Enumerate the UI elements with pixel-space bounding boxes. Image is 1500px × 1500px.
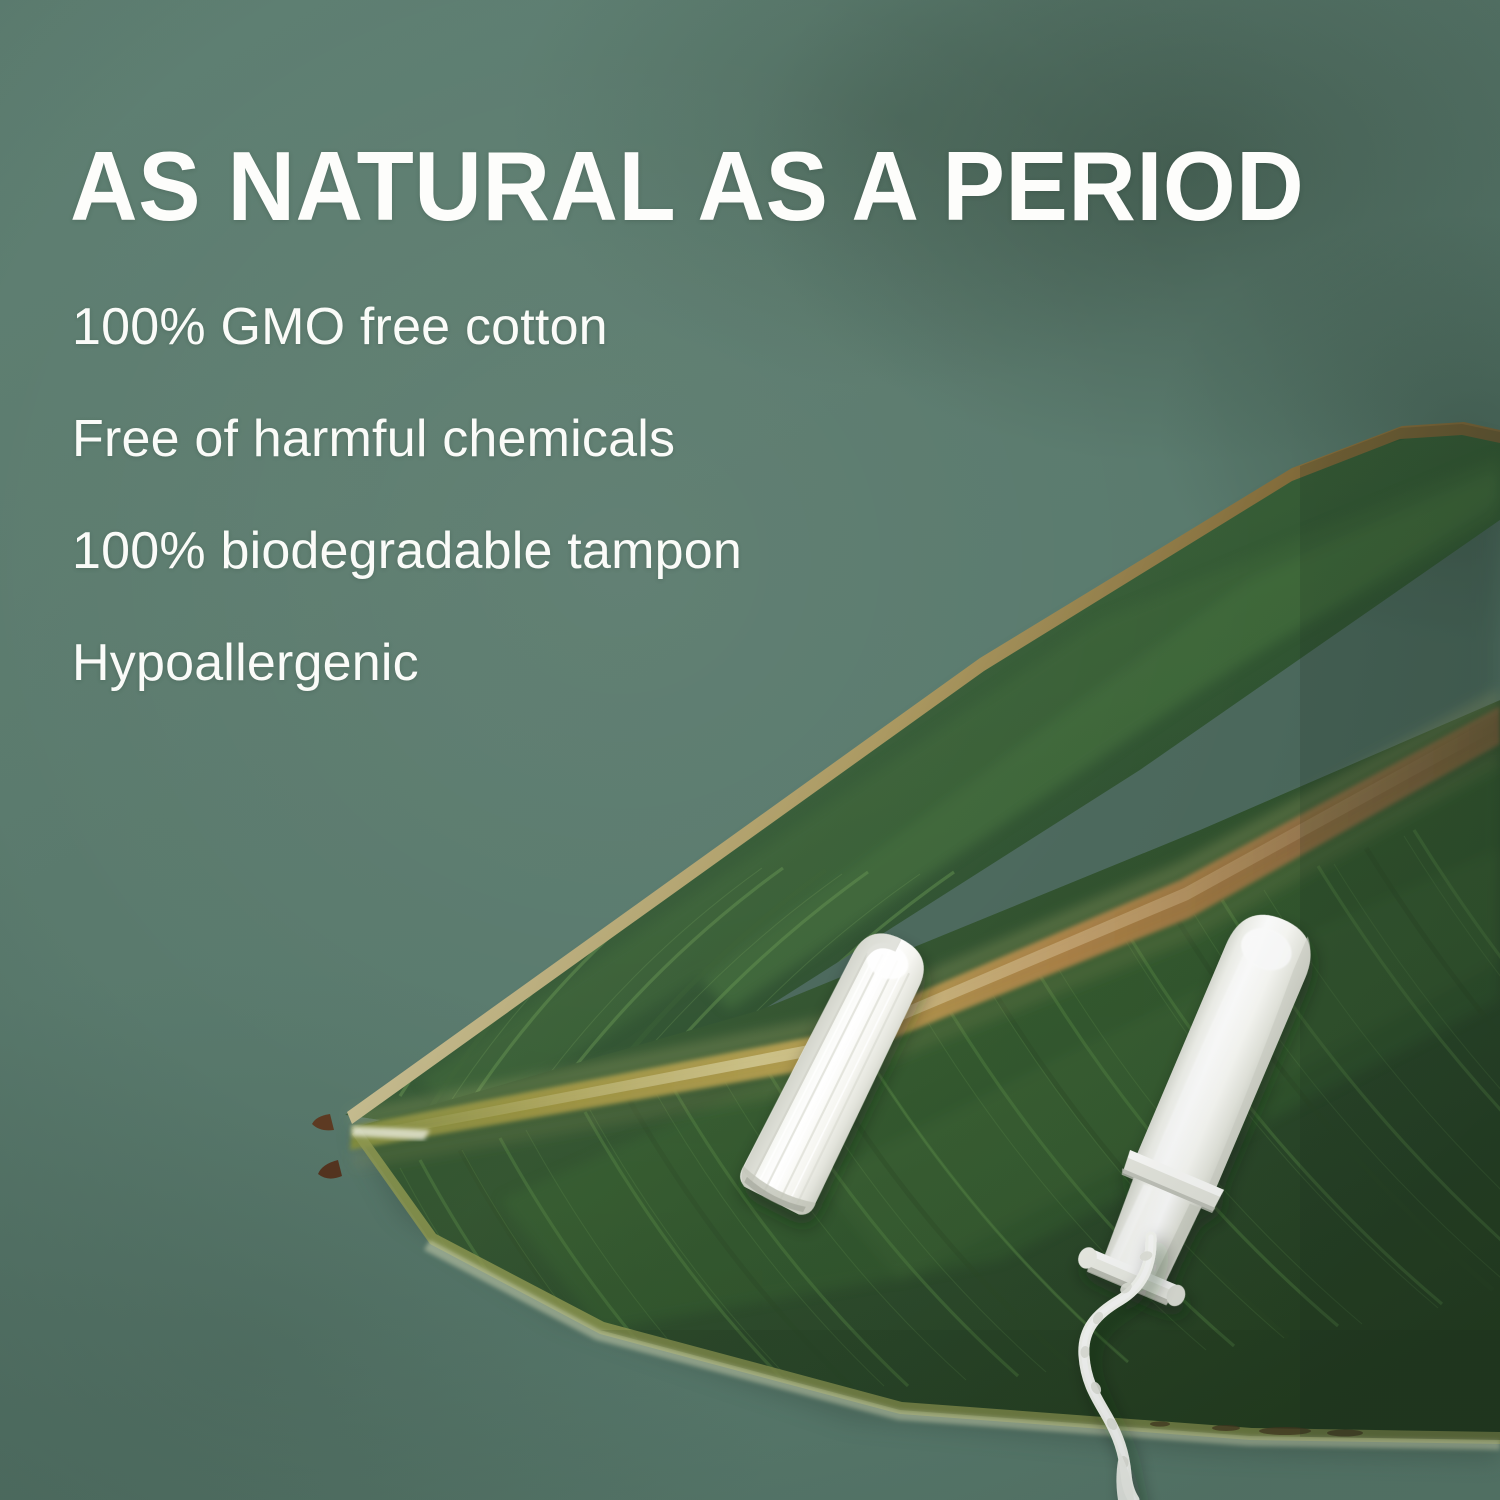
page-title: AS NATURAL AS A PERIOD	[70, 137, 1388, 235]
feature-item-no-chemicals: Free of harmful chemicals	[72, 412, 972, 524]
feature-item-hypoallergenic: Hypoallergenic	[72, 636, 972, 748]
product-feature-banner: AS NATURAL AS A PERIOD 100% GMO free cot…	[0, 0, 1500, 1500]
feature-item-biodegradable: 100% biodegradable tampon	[72, 524, 972, 636]
feature-list: 100% GMO free cotton Free of harmful che…	[72, 300, 972, 748]
feature-item-gmo-free: 100% GMO free cotton	[72, 300, 972, 412]
